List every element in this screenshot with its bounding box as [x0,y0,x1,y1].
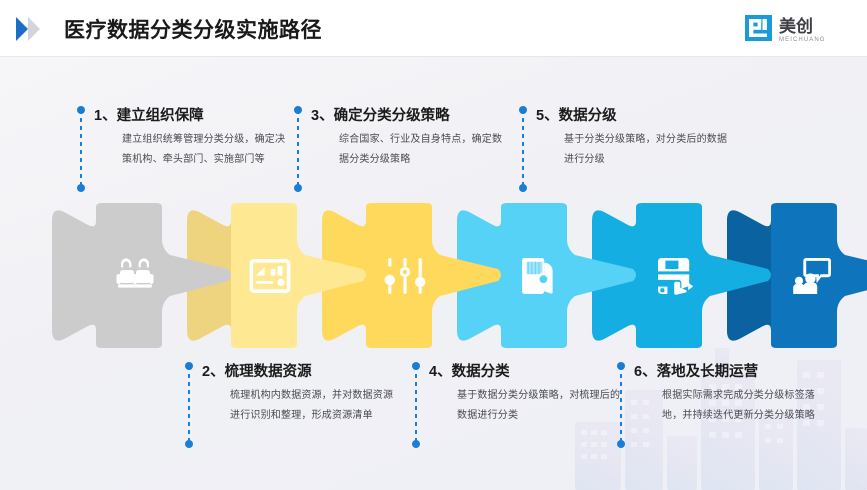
callout-dot-bottom [185,440,193,448]
header-divider [0,56,867,57]
callout-dot-top [77,106,85,114]
callout-dot-bottom [617,440,625,448]
callout-dot-bottom [412,440,420,448]
process-arrow-step-1[interactable] [52,203,234,348]
step-body: 基于分类分级策略，对分类后的数据进行分级 [564,130,732,169]
callout-dot-bottom [294,184,302,192]
step-body: 梳理机构内数据资源，并对数据资源进行识别和整理，形成资源清单 [230,386,398,425]
step-body: 建立组织统筹管理分类分级，确定决策机构、牵头部门、实施部门等 [122,130,290,169]
callout-dot-bottom [519,184,527,192]
data-panel-chart-icon [242,248,298,304]
callout-dot-top [519,106,527,114]
callout-stem [80,110,82,188]
callout-dot-top [294,106,302,114]
callout-dot-bottom [77,184,85,192]
step-body: 根据实际需求完成分类分级标签落地，并持续迭代更新分类分级策略 [662,386,830,425]
people-speech-bubble-icon [782,248,838,304]
sliders-settings-icon [377,248,433,304]
callout-dot-top [185,362,193,370]
blue-chevron-marker-icon [14,16,58,42]
step-title: 1、建立组织保障 [94,104,204,125]
callout-stem [620,366,622,444]
callout-stem [297,110,299,188]
step-title: 2、梳理数据资源 [202,360,312,381]
slide-canvas: 医疗数据分类分级实施路径 美创 MEICHUANG [0,0,867,490]
step-title: 5、数据分级 [536,104,617,125]
process-arrow-row [52,203,842,348]
step-title: 3、确定分类分级策略 [311,104,450,125]
book-certificate-icon [512,248,568,304]
data-grading-disk-icon [647,248,703,304]
callout-dot-top [412,362,420,370]
step-body: 综合国家、行业及自身特点，确定数据分类分级策略 [339,130,507,169]
team-people-icon [107,248,163,304]
callout-dot-top [617,362,625,370]
meichuang-mark-icon [745,15,772,41]
step-title: 4、数据分类 [429,360,510,381]
meichuang-logo: 美创 MEICHUANG [745,12,853,46]
svg-text:MEICHUANG: MEICHUANG [779,37,826,43]
svg-text:美创: 美创 [779,16,813,36]
callout-stem [415,366,417,444]
step-title: 6、落地及长期运营 [634,360,758,381]
page-title: 医疗数据分类分级实施路径 [64,14,322,44]
step-body: 基于数据分类分级策略，对梳理后的数据进行分类 [457,386,625,425]
callout-stem [522,110,524,188]
callout-stem [188,366,190,444]
